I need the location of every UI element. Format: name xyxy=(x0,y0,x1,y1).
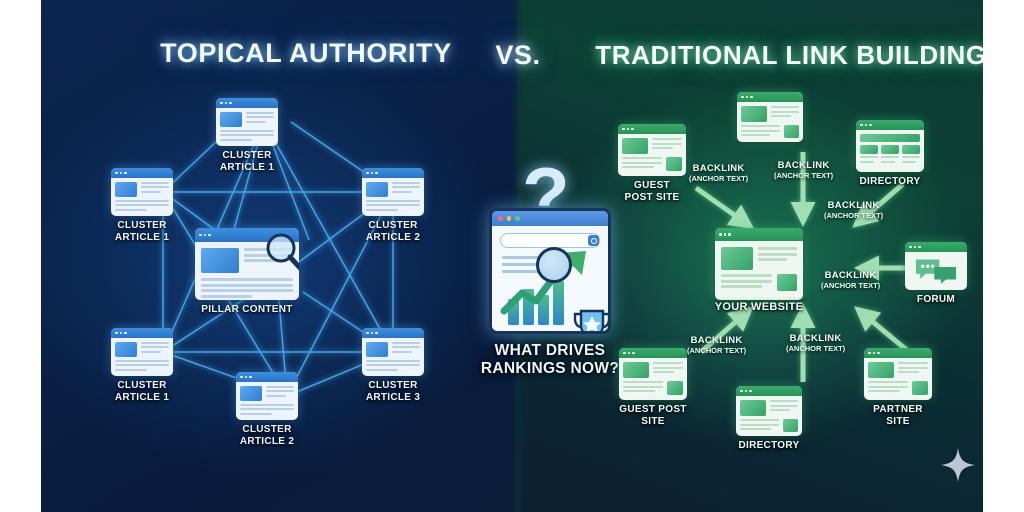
node-guest-post-site-bottom[interactable]: GUEST POST SITE xyxy=(619,348,687,400)
left-panel-title: TOPICAL AUTHORITY xyxy=(141,38,471,69)
magnifier-icon xyxy=(264,232,299,274)
search-bar-icon[interactable] xyxy=(500,233,600,248)
question-mark-dot xyxy=(536,247,572,283)
node-label: GUEST POST SITE xyxy=(578,404,728,427)
node-pillar-content[interactable]: PILLAR CONTENT xyxy=(195,228,299,300)
node-label: DIRECTORY xyxy=(815,176,965,188)
right-panel-title: TRADITIONAL LINK BUILDING xyxy=(586,40,983,71)
backlink-label-1: BACKLINK (ANCHOR TEXT) xyxy=(689,163,748,183)
backlink-label-5: BACKLINK (ANCHOR TEXT) xyxy=(687,335,746,355)
node-label: CLUSTER ARTICLE 2 xyxy=(192,424,342,447)
browser-titlebar xyxy=(492,211,608,226)
browser-window-icon xyxy=(736,386,802,436)
backlink-label-2: BACKLINK (ANCHOR TEXT) xyxy=(774,160,833,180)
node-label: GUEST POST SITE xyxy=(577,180,727,203)
search-icon xyxy=(588,235,599,246)
browser-window-icon xyxy=(864,348,932,400)
node-forum[interactable]: FORUM xyxy=(905,242,967,290)
node-label: CLUSTER ARTICLE 2 xyxy=(318,220,468,243)
browser-window-icon xyxy=(737,92,803,142)
backlink-label-3: BACKLINK (ANCHOR TEXT) xyxy=(824,200,883,220)
node-label: CLUSTER ARTICLE 3 xyxy=(318,380,468,403)
node-label: CLUSTER ARTICLE 1 xyxy=(172,150,322,173)
backlink-label-6: BACKLINK (ANCHOR TEXT) xyxy=(786,333,845,353)
infographic-canvas: TOPICAL AUTHORITY VS. TRADITIONAL LINK B… xyxy=(0,0,1024,512)
node-directory-top[interactable]: DIRECTORY xyxy=(856,120,924,172)
browser-window-icon xyxy=(489,208,611,334)
browser-window-icon xyxy=(216,98,278,146)
hub-caption: WHAT DRIVES RANKINGS NOW? xyxy=(463,342,637,378)
trophy-icon xyxy=(572,307,611,334)
node-cluster-article-1-top[interactable]: CLUSTER ARTICLE 1 xyxy=(216,98,278,146)
node-guest-post-site-top[interactable]: GUEST POST SITE xyxy=(618,124,686,176)
browser-window-icon xyxy=(362,328,424,376)
node-label: PARTNER SITE xyxy=(823,404,973,427)
browser-window-icon xyxy=(236,372,298,420)
four-point-star-icon xyxy=(941,448,975,482)
node-directory-bottom[interactable]: DIRECTORY xyxy=(736,386,802,436)
browser-window-icon xyxy=(618,124,686,176)
browser-window-icon xyxy=(362,168,424,216)
node-label: YOUR WEBSITE xyxy=(679,302,839,314)
browser-window-magnifier-icon xyxy=(195,228,299,300)
browser-window-icon xyxy=(111,168,173,216)
node-cluster-article-3-bottomright[interactable]: CLUSTER ARTICLE 3 xyxy=(362,328,424,376)
browser-window-icon xyxy=(111,328,173,376)
node-cluster-article-1-bottomleft[interactable]: CLUSTER ARTICLE 1 xyxy=(111,328,173,376)
node-label: DIRECTORY xyxy=(694,440,844,452)
node-blog-top[interactable] xyxy=(737,92,803,142)
chat-bubbles-icon xyxy=(905,242,967,290)
browser-window-icon xyxy=(619,348,687,400)
node-label: CLUSTER ARTICLE 1 xyxy=(67,380,217,403)
node-label: PILLAR CONTENT xyxy=(162,304,332,316)
browser-window-icon xyxy=(715,228,803,300)
node-cluster-article-1-left[interactable]: CLUSTER ARTICLE 1 xyxy=(111,168,173,216)
browser-grid-icon xyxy=(856,120,924,172)
backlink-label-4: BACKLINK (ANCHOR TEXT) xyxy=(821,270,880,290)
panels-container: TOPICAL AUTHORITY VS. TRADITIONAL LINK B… xyxy=(41,0,983,512)
node-cluster-article-2-bottom[interactable]: CLUSTER ARTICLE 2 xyxy=(236,372,298,420)
node-partner-site[interactable]: PARTNER SITE xyxy=(864,348,932,400)
node-your-website[interactable]: YOUR WEBSITE xyxy=(715,228,803,300)
node-cluster-article-2-right[interactable]: CLUSTER ARTICLE 2 xyxy=(362,168,424,216)
node-label: FORUM xyxy=(861,294,983,306)
vs-label: VS. xyxy=(483,40,553,71)
